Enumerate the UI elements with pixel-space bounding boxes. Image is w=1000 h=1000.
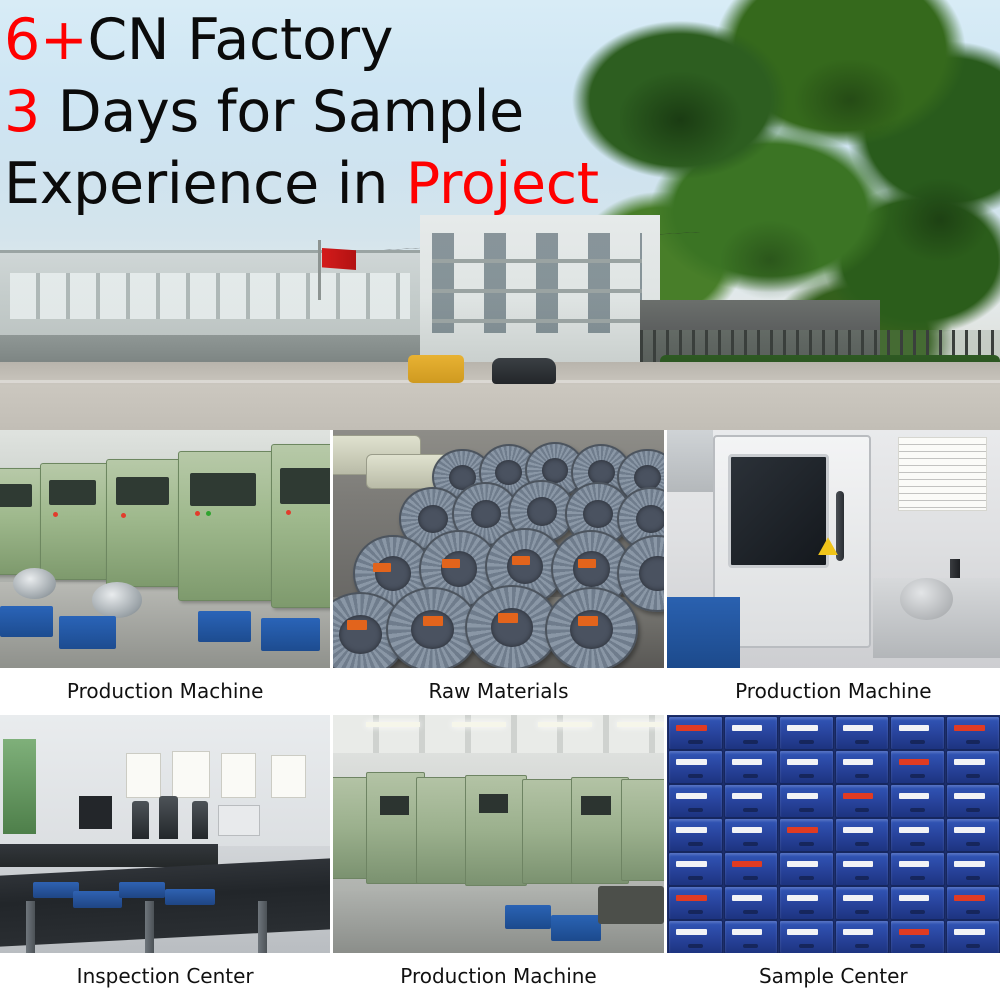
sample-drawer	[946, 750, 1000, 784]
drawer-label	[954, 827, 984, 833]
drawer-label	[899, 725, 929, 731]
sample-drawer	[890, 886, 945, 920]
drawer-handle	[743, 910, 758, 914]
sample-drawer	[835, 852, 890, 886]
drawer-label	[787, 861, 817, 867]
sample-drawer	[835, 886, 890, 920]
drawer-handle	[688, 808, 703, 812]
drawer-label	[676, 861, 706, 867]
sample-drawer	[724, 920, 779, 953]
sample-drawer	[668, 818, 723, 852]
production-hall-photo	[333, 715, 663, 953]
headline-line-3-highlight: Project	[406, 151, 599, 217]
drawer-handle	[966, 944, 981, 948]
headline-line-3-text: Experience in	[4, 151, 406, 217]
drawer-label	[843, 861, 873, 867]
drawer-label	[843, 759, 873, 765]
drawer-label	[676, 725, 706, 731]
sample-drawer	[724, 784, 779, 818]
sample-drawer	[668, 784, 723, 818]
flagpole	[318, 240, 321, 300]
drawer-handle	[910, 876, 925, 880]
drawer-label	[954, 725, 984, 731]
sample-drawer	[724, 818, 779, 852]
photo-gallery: Production Machine	[0, 430, 1000, 1000]
headline-block: 6+CN Factory 3 Days for Sample Experienc…	[0, 0, 1000, 220]
drawer-handle	[743, 774, 758, 778]
gallery-row: Production Machine	[0, 430, 1000, 715]
headline-line-1-highlight: 6+	[4, 7, 87, 73]
inspection-center-photo	[0, 715, 330, 953]
drawer-handle	[855, 944, 870, 948]
sample-drawer	[668, 852, 723, 886]
drawer-handle	[743, 876, 758, 880]
flag-icon	[322, 248, 356, 270]
drawer-handle	[688, 910, 703, 914]
drawer-label	[676, 895, 706, 901]
sample-drawer	[668, 886, 723, 920]
factory-building-middle	[420, 215, 660, 365]
sample-drawer	[890, 716, 945, 750]
headline-line-1: 6+CN Factory	[4, 4, 1000, 76]
gallery-cell[interactable]: Inspection Center	[0, 715, 333, 1000]
drawer-label	[787, 725, 817, 731]
drawer-label	[843, 725, 873, 731]
gallery-cell[interactable]: Raw Materials	[333, 430, 666, 715]
drawer-label	[732, 929, 762, 935]
sample-drawer	[890, 852, 945, 886]
drawer-label	[732, 861, 762, 867]
cell-caption: Production Machine	[0, 668, 330, 715]
sample-drawer	[779, 886, 834, 920]
sample-drawer	[835, 920, 890, 953]
drawer-handle	[688, 944, 703, 948]
drawer-handle	[966, 774, 981, 778]
sample-drawer	[890, 750, 945, 784]
sample-drawer	[890, 784, 945, 818]
drawer-handle	[743, 808, 758, 812]
drawer-label	[899, 793, 929, 799]
sample-drawer	[779, 920, 834, 953]
drawer-handle	[910, 944, 925, 948]
drawer-handle	[743, 842, 758, 846]
drawer-label	[787, 793, 817, 799]
gallery-cell[interactable]: Sample Center	[667, 715, 1000, 1000]
sample-drawer	[946, 784, 1000, 818]
drawer-label	[954, 759, 984, 765]
drawer-handle	[910, 842, 925, 846]
yellow-van	[408, 355, 464, 383]
cnc-machine-photo	[667, 430, 1000, 668]
drawer-handle	[743, 944, 758, 948]
drawer-label	[676, 827, 706, 833]
drawer-handle	[966, 808, 981, 812]
drawer-handle	[855, 842, 870, 846]
drawer-handle	[855, 876, 870, 880]
drawer-label	[732, 793, 762, 799]
drawer-handle	[910, 774, 925, 778]
hero-banner: 6+CN Factory 3 Days for Sample Experienc…	[0, 0, 1000, 430]
cell-caption: Sample Center	[667, 953, 1000, 1000]
drawer-handle	[799, 910, 814, 914]
drawer-handle	[799, 876, 814, 880]
drawer-label	[954, 793, 984, 799]
drawer-label	[899, 827, 929, 833]
sample-drawer	[724, 716, 779, 750]
drawer-handle	[799, 842, 814, 846]
sample-drawer	[779, 818, 834, 852]
drawer-handle	[688, 876, 703, 880]
promo-image: 6+CN Factory 3 Days for Sample Experienc…	[0, 0, 1000, 1000]
drawer-handle	[688, 740, 703, 744]
gallery-row: Inspection Center	[0, 715, 1000, 1000]
drawer-handle	[855, 910, 870, 914]
sample-drawer	[946, 920, 1000, 953]
sample-drawer	[890, 920, 945, 953]
drawer-label	[676, 793, 706, 799]
drawer-handle	[910, 808, 925, 812]
drawer-label	[732, 759, 762, 765]
sample-drawer	[779, 852, 834, 886]
sample-drawer	[724, 750, 779, 784]
drawer-label	[787, 929, 817, 935]
sample-drawer	[835, 716, 890, 750]
sample-drawer	[835, 818, 890, 852]
sample-drawer	[779, 784, 834, 818]
drawer-label	[843, 827, 873, 833]
drawer-handle	[966, 740, 981, 744]
cell-caption: Inspection Center	[0, 953, 330, 1000]
drawer-label	[843, 793, 873, 799]
gallery-cell[interactable]: Production Machine	[333, 715, 666, 1000]
drawer-handle	[910, 740, 925, 744]
drawer-label	[954, 929, 984, 935]
drawer-handle	[966, 842, 981, 846]
headline-line-1-text: CN Factory	[87, 7, 393, 73]
drawer-handle	[855, 808, 870, 812]
sample-drawer	[835, 784, 890, 818]
drawer-label	[787, 759, 817, 765]
sample-drawer	[946, 852, 1000, 886]
drawer-label	[899, 759, 929, 765]
drawer-handle	[910, 910, 925, 914]
drawer-handle	[855, 774, 870, 778]
drawer-label	[899, 929, 929, 935]
sample-drawer	[946, 818, 1000, 852]
cell-caption: Production Machine	[667, 668, 1000, 715]
cell-caption: Production Machine	[333, 953, 663, 1000]
drawer-handle	[799, 740, 814, 744]
drawer-label	[732, 895, 762, 901]
raw-materials-photo	[333, 430, 663, 668]
sample-center-photo	[667, 715, 1000, 953]
drawer-handle	[966, 910, 981, 914]
cell-caption: Raw Materials	[333, 668, 663, 715]
drawer-label	[732, 827, 762, 833]
headline-line-2: 3 Days for Sample	[4, 76, 1000, 148]
sample-drawer	[724, 886, 779, 920]
drawer-handle	[688, 774, 703, 778]
sample-drawer	[890, 818, 945, 852]
drawer-label	[899, 895, 929, 901]
drawer-label	[899, 861, 929, 867]
sample-drawer	[946, 886, 1000, 920]
headline-line-2-highlight: 3	[4, 79, 40, 145]
drawer-handle	[688, 842, 703, 846]
sample-drawer	[668, 716, 723, 750]
drawer-label	[954, 861, 984, 867]
drawer-label	[843, 895, 873, 901]
gallery-cell[interactable]: Production Machine	[667, 430, 1000, 715]
sample-drawer	[668, 750, 723, 784]
sample-drawer	[946, 716, 1000, 750]
drawer-label	[787, 827, 817, 833]
production-machine-photo	[0, 430, 330, 668]
gallery-cell[interactable]: Production Machine	[0, 430, 333, 715]
drawer-handle	[966, 876, 981, 880]
drawer-handle	[855, 740, 870, 744]
drawer-handle	[799, 944, 814, 948]
drawer-label	[676, 929, 706, 935]
drawer-label	[954, 895, 984, 901]
sample-drawer	[779, 716, 834, 750]
headline-line-3: Experience in Project	[4, 148, 1000, 220]
drawer-handle	[799, 774, 814, 778]
drawer-handle	[743, 740, 758, 744]
drawer-label	[843, 929, 873, 935]
sample-drawer	[668, 920, 723, 953]
sample-drawer	[779, 750, 834, 784]
drawer-label	[732, 725, 762, 731]
drawer-label	[676, 759, 706, 765]
drawer-handle	[799, 808, 814, 812]
sample-drawer	[724, 852, 779, 886]
drawer-label	[787, 895, 817, 901]
headline-line-2-text: Days for Sample	[40, 79, 524, 145]
black-sedan	[492, 358, 556, 384]
sample-drawer	[835, 750, 890, 784]
factory-building-left	[0, 250, 420, 363]
